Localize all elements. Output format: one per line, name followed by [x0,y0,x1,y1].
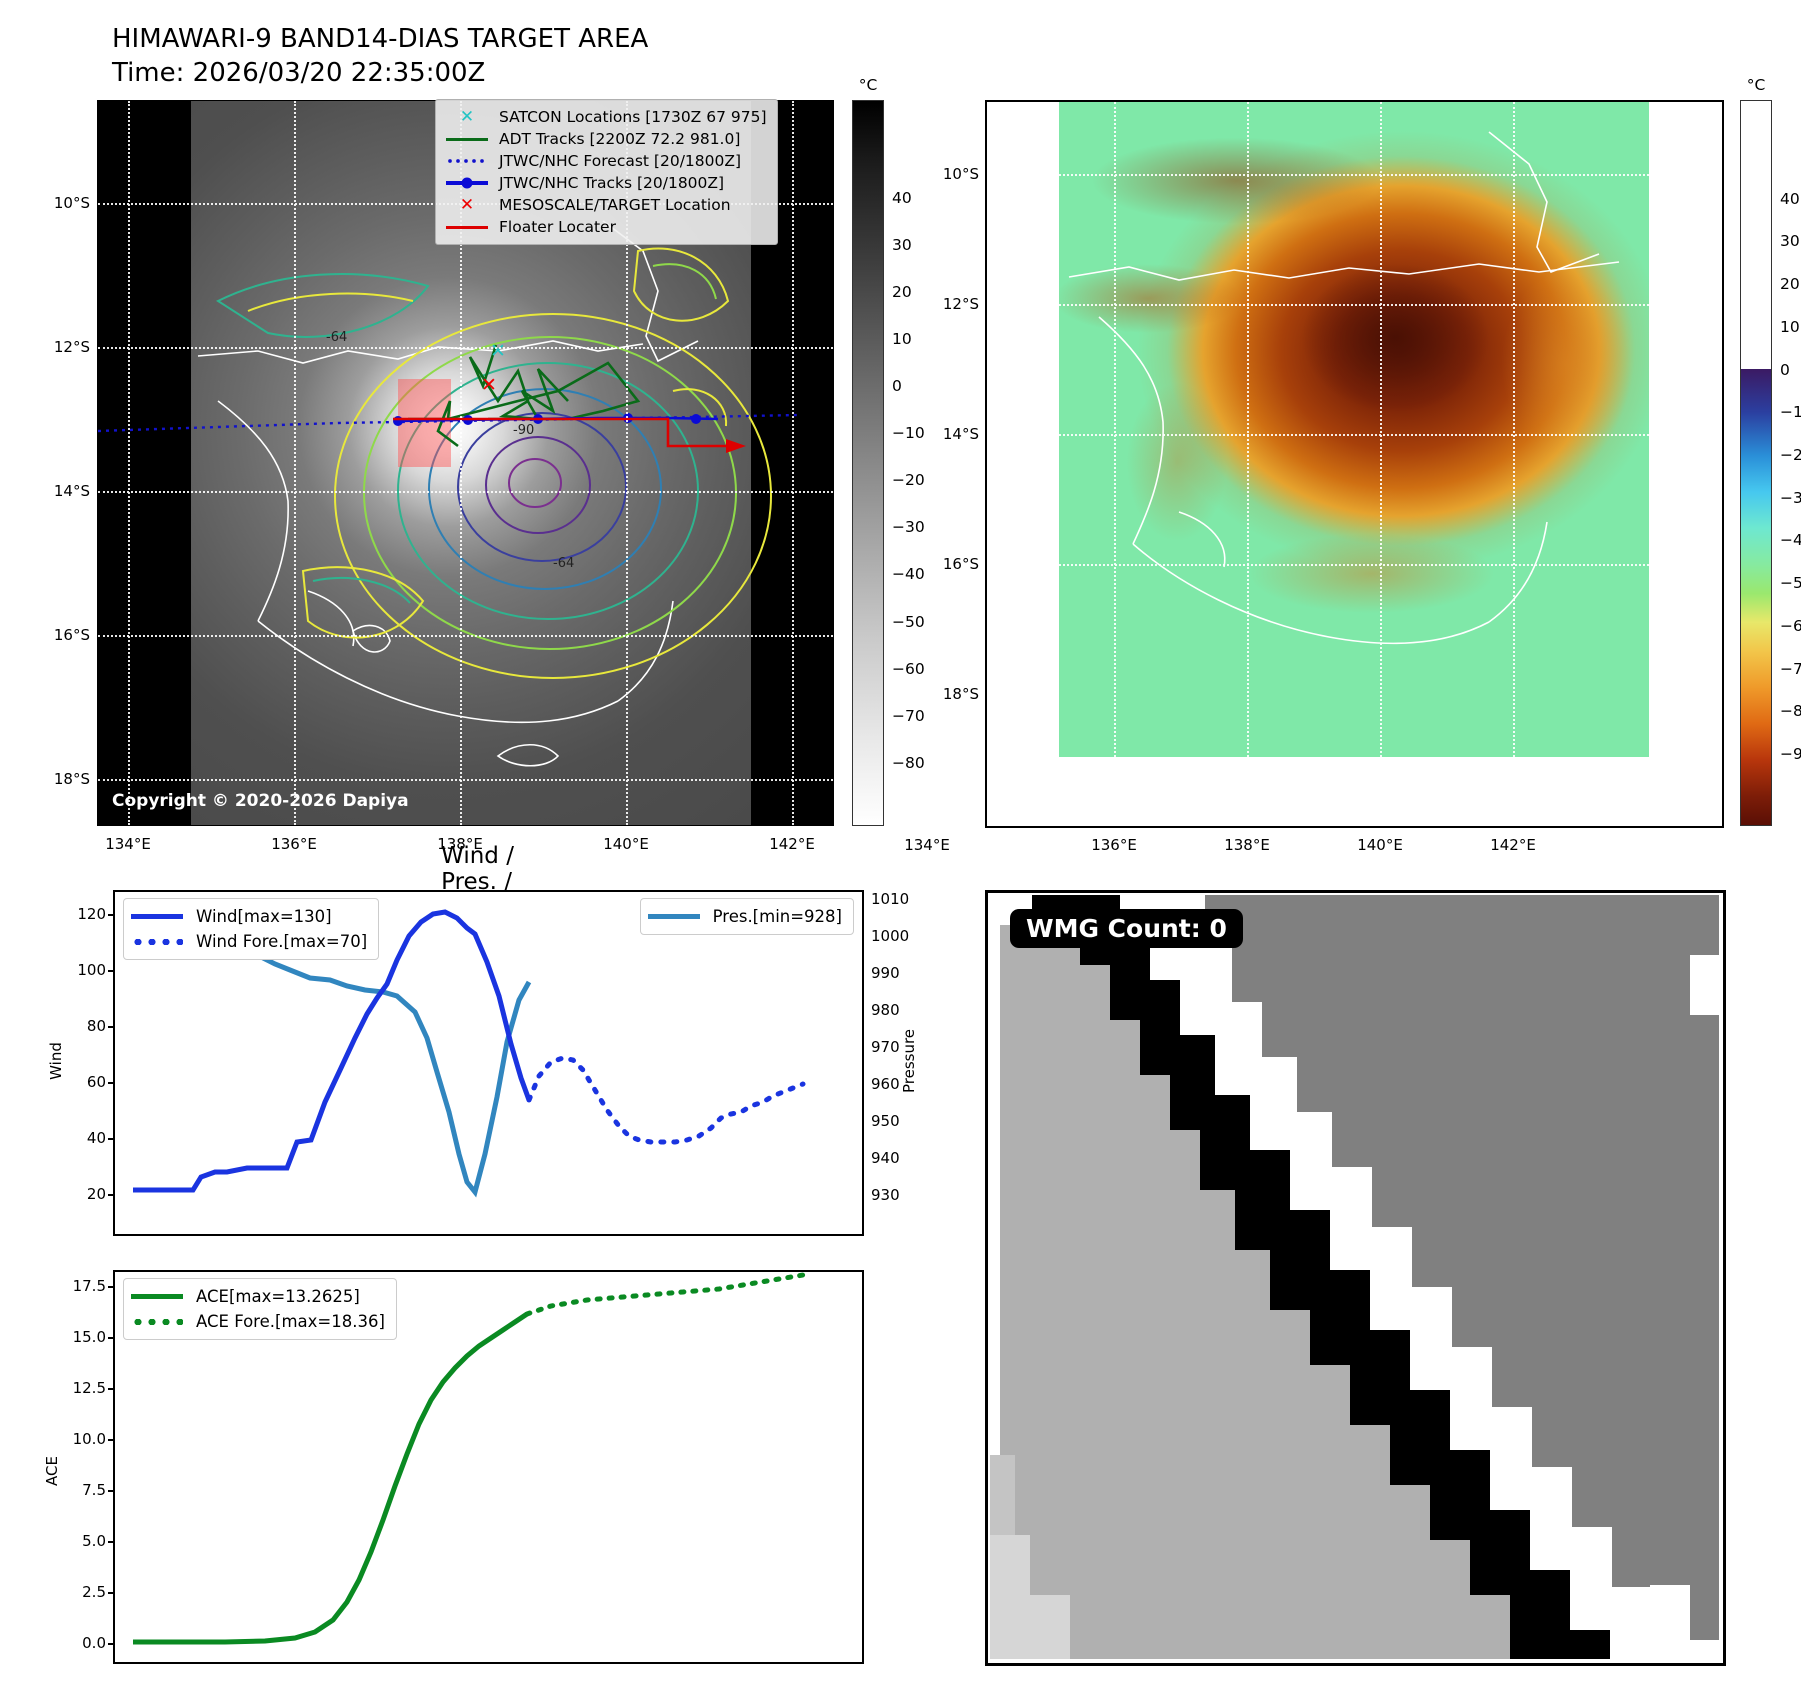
lat-label: 14°S [943,425,979,443]
pressure-tick: 960 [871,1075,900,1093]
colorbar-tick: −20 [892,471,925,489]
colorbar-tick: 20 [1780,275,1800,293]
lat-label: 14°S [54,482,90,500]
forecast-dotted-icon [444,159,490,163]
awv-image [1059,102,1649,757]
colorbar-tick: −20 [1780,446,1801,464]
colorbar-tick: 40 [1780,190,1800,208]
wind-axis-label: Wind [47,1042,65,1080]
gridline-lat [98,635,833,637]
wind-forecast-dotted-icon [131,939,187,945]
legend-item-jtwc-forecast[interactable]: JTWC/NHC Forecast [20/1800Z] [444,150,767,172]
colorbar-tick: −30 [1780,489,1801,507]
pressure-line-icon [648,914,704,919]
gridline-lat [1059,564,1649,566]
pressure-tick: 980 [871,1001,900,1019]
gridline-lat [1059,304,1649,306]
gridline-lon [1247,102,1249,757]
wmg-blocks [990,895,1719,1659]
colorbar-tick: 20 [892,283,912,301]
colorbar-tick: 40 [892,189,912,207]
wind-tick: 80 [87,1017,106,1035]
legend-label: SATCON Locations [1730Z 67 975] [499,108,767,126]
colorbar-unit: °C [859,76,878,94]
lat-label: 10°S [943,165,979,183]
colorbar-tick: −30 [892,518,925,536]
pressure-tick: 990 [871,964,900,982]
colorbar-tick: −50 [892,613,925,631]
lat-label: 16°S [54,626,90,644]
ace-tick: 5.0 [82,1532,106,1550]
colorbar-tick: 10 [1780,318,1800,336]
legend-item-floater-locater[interactable]: Floater Locater [444,216,767,238]
map-legend: ✕ SATCON Locations [1730Z 67 975] ADT Tr… [435,99,778,245]
lat-label: 18°S [54,770,90,788]
title-line-2: Time: 2026/03/20 22:35:00Z [112,58,485,88]
pressure-tick: 1000 [871,927,909,945]
gridline-lat [98,779,833,781]
lon-label: 136°E [1091,836,1137,854]
legend-label: ACE Fore.[max=18.36] [196,1312,385,1331]
lat-label: 12°S [54,338,90,356]
ace-line-icon [131,1294,187,1299]
mesoscale-target-x: ✕ [481,374,497,396]
wind-tick: 120 [77,905,106,923]
lat-label: 12°S [943,295,979,313]
gridline-lat [98,491,833,493]
gridline-lat [1059,174,1649,176]
legend-label: ACE[max=13.2625] [196,1287,360,1306]
colorbar-tick: −80 [892,754,925,772]
gridline-lon [792,101,794,825]
legend-label: Floater Locater [499,218,616,236]
legend-item-wind-forecast[interactable]: Wind Fore.[max=70] [131,929,367,954]
colorbar-tick: −10 [892,424,925,442]
satcon-marker-x: ✕ [490,340,506,362]
lon-label: 142°E [769,835,815,853]
legend-item-wind[interactable]: Wind[max=130] [131,904,367,929]
ace-tick: 2.5 [82,1583,106,1601]
gridline-lon [1114,102,1116,757]
colorbar-tick: −60 [1780,617,1801,635]
legend-label: JTWC/NHC Forecast [20/1800Z] [499,152,741,170]
awv-coastline-overlay [1059,102,1649,757]
colorbar-tick: 0 [892,377,902,395]
wind-line-icon [131,914,187,919]
pressure-legend: Pres.[min=928] [640,898,854,935]
gridline-lon [1513,102,1515,757]
lat-label: 18°S [943,685,979,703]
pressure-axis-label: Pressure [900,1029,918,1093]
colorbar-tick: −40 [1780,531,1801,549]
legend-item-satcon[interactable]: ✕ SATCON Locations [1730Z 67 975] [444,106,767,128]
legend-item-ace[interactable]: ACE[max=13.2625] [131,1284,385,1309]
title-line-1: HIMAWARI-9 BAND14-DIAS TARGET AREA [112,24,648,54]
lat-label: 16°S [943,555,979,573]
ace-axis-label: ACE [43,1456,61,1486]
ace-tick: 17.5 [73,1277,106,1295]
colorbar-tick: 30 [1780,232,1800,250]
wind-legend: Wind[max=130] Wind Fore.[max=70] [123,898,379,960]
pressure-tick: 930 [871,1186,900,1204]
satcon-x-icon: ✕ [444,109,490,126]
legend-label: Pres.[min=928] [713,907,842,926]
lon-label: 136°E [271,835,317,853]
wmg-count-badge: WMG Count: 0 [1010,909,1243,948]
wmg-chart[interactable]: WMG Count: 0 [985,890,1726,1666]
colorbar-tick: −10 [1780,403,1801,421]
legend-item-pressure[interactable]: Pres.[min=928] [648,904,842,929]
gridline-lat [98,347,833,349]
ir-satellite-map[interactable]: -64 -90 -64 [97,100,834,826]
colorbar-tick: −70 [892,707,925,725]
pressure-tick: 940 [871,1149,900,1167]
colorbar-tick: −40 [892,565,925,583]
gridline-lon [1380,102,1382,757]
ace-tick: 10.0 [73,1430,106,1448]
target-x-icon: ✕ [444,197,490,214]
colorbar-tick: −70 [1780,660,1801,678]
gridline-lat [1059,434,1649,436]
colorbar-tick: −50 [1780,574,1801,592]
legend-label: Wind Fore.[max=70] [196,932,367,951]
awv-satellite-map[interactable]: 10°S 12°S 14°S 16°S 18°S 134°E 136°E 138… [985,100,1724,828]
ace-chart[interactable]: 17.5 15.0 12.5 10.0 7.5 5.0 2.5 0.0 ACE … [113,1270,864,1664]
legend-label: ADT Tracks [2200Z 72.2 981.0] [499,130,740,148]
legend-label: MESOSCALE/TARGET Location [499,196,731,214]
ace-forecast-dotted-icon [131,1319,187,1325]
ace-legend: ACE[max=13.2625] ACE Fore.[max=18.36] [123,1278,397,1340]
pressure-tick: 950 [871,1112,900,1130]
wind-tick: 100 [77,961,106,979]
track-marker-icon [444,181,490,185]
ace-tick: 0.0 [82,1634,106,1652]
lon-label: 138°E [1224,836,1270,854]
ir-colorbar: °C 40 30 20 10 0 −10 −20 −30 −40 −50 −60… [852,100,884,826]
colorbar-tick: 10 [892,330,912,348]
copyright-notice: Copyright © 2020-2026 Dapiya [112,791,409,811]
ace-tick: 15.0 [73,1328,106,1346]
pressure-tick: 970 [871,1038,900,1056]
lon-label: 134°E [904,836,950,854]
lon-label: 140°E [603,835,649,853]
colorbar-tick: −60 [892,660,925,678]
adt-line-icon [444,138,490,141]
page-title: HIMAWARI-9 BAND14-DIAS TARGET AREA Time:… [112,22,648,90]
gridline-lon [294,101,296,825]
legend-item-ace-forecast[interactable]: ACE Fore.[max=18.36] [131,1309,385,1334]
colorbar-unit: °C [1747,76,1766,94]
lon-label: 142°E [1490,836,1536,854]
lon-label: 140°E [1357,836,1403,854]
wind-tick: 20 [87,1185,106,1203]
wind-tick: 60 [87,1073,106,1091]
lon-label: 134°E [105,835,151,853]
legend-item-mesoscale-target[interactable]: ✕ MESOSCALE/TARGET Location [444,194,767,216]
wind-pressure-chart[interactable]: 120 100 80 60 40 20 1010 1000 990 980 97… [113,890,864,1236]
legend-label: Wind[max=130] [196,907,332,926]
awv-colorbar: °C 40 30 20 10 0 −10 −20 −30 −40 −50 −60… [1740,100,1772,826]
legend-item-adt-tracks[interactable]: ADT Tracks [2200Z 72.2 981.0] [444,128,767,150]
ace-tick: 7.5 [82,1481,106,1499]
lat-label: 10°S [54,194,90,212]
colorbar-tick: −80 [1780,702,1801,720]
pressure-tick: 1010 [871,890,909,908]
wmg-canvas [990,895,1721,1661]
gridline-lon [128,101,130,825]
colorbar-tick: 0 [1780,361,1790,379]
colorbar-tick: −90 [1780,745,1801,763]
ace-tick: 12.5 [73,1379,106,1397]
floater-line-icon [444,226,490,229]
legend-label: JTWC/NHC Tracks [20/1800Z] [499,174,724,192]
legend-item-jtwc-tracks[interactable]: JTWC/NHC Tracks [20/1800Z] [444,172,767,194]
wind-tick: 40 [87,1129,106,1147]
colorbar-tick: 30 [892,236,912,254]
